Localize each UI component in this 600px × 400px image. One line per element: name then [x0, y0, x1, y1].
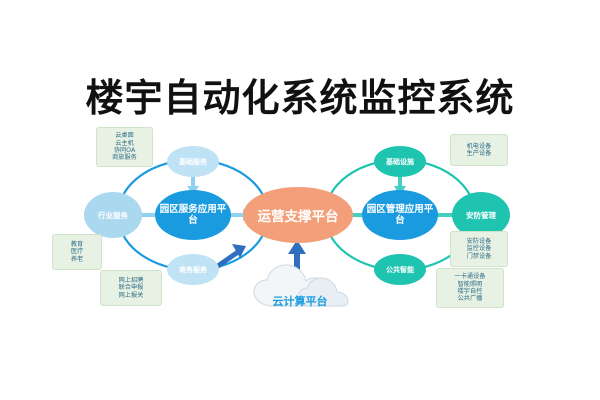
- tagbox-industry-services: 教育 医疗 养老: [52, 234, 102, 270]
- node-public-intelligence[interactable]: 公共智能: [374, 254, 426, 285]
- node-business-services[interactable]: 商务服务: [167, 254, 219, 285]
- tag-item: 联合申报: [119, 284, 144, 291]
- tag-item: 医疗: [71, 248, 83, 255]
- tag-item: 商旅服务: [112, 154, 137, 161]
- tagbox-infrastructure-equipment: 机电设备 生产设备: [450, 134, 508, 166]
- node-park-management-application-platform-label: 园区管理应用平台: [364, 204, 436, 226]
- tag-item: 云主机: [115, 140, 134, 147]
- node-business-services-label: 商务服务: [169, 265, 217, 275]
- node-infrastructure-label: 基础设施: [376, 157, 424, 167]
- tag-item: 网上报关: [119, 292, 144, 299]
- tagbox-cloud-services: 云桌面 云主机 协同OA 商旅服务: [96, 127, 153, 167]
- tagbox-security-equipment: 安防设备 监控设备 门禁设备: [450, 231, 508, 267]
- tag-item: 智能照明: [458, 281, 483, 288]
- node-operation-support-platform[interactable]: 运营支撑平台: [243, 187, 353, 243]
- tag-item: 生产设备: [467, 150, 492, 157]
- node-infrastructure[interactable]: 基础设施: [374, 146, 426, 177]
- node-industry-services-label: 行业服务: [86, 210, 140, 221]
- node-operation-support-platform-label: 运营支撑平台: [245, 205, 351, 225]
- node-park-service-application-platform[interactable]: 园区服务应用平台: [155, 190, 231, 240]
- tag-item: 一卡通设备: [455, 273, 486, 280]
- node-park-management-application-platform[interactable]: 园区管理应用平台: [362, 190, 438, 240]
- node-industry-services[interactable]: 行业服务: [84, 192, 142, 238]
- tag-item: 云桌面: [115, 132, 134, 139]
- tag-item: 监控设备: [467, 245, 492, 252]
- node-basic-services[interactable]: 基础服务: [167, 146, 219, 177]
- tag-item: 机电设备: [467, 143, 492, 150]
- diagram-canvas: 楼宇自动化系统监控系统: [0, 0, 600, 400]
- node-security-management-label: 安防管理: [454, 210, 508, 221]
- node-basic-services-label: 基础服务: [169, 157, 217, 167]
- tag-item: 养老: [71, 256, 83, 263]
- tag-item: 门禁设备: [467, 253, 492, 260]
- tagbox-business-services: 网上招聘 联合申报 网上报关: [100, 270, 162, 306]
- cloud-computing-label: 云计算平台: [245, 293, 355, 309]
- tagbox-public-intelligence: 一卡通设备 智能照明 楼宇自控 公共广播: [436, 268, 504, 308]
- tag-item: 公共广播: [458, 295, 483, 302]
- node-park-service-application-platform-label: 园区服务应用平台: [157, 204, 229, 226]
- node-public-intelligence-label: 公共智能: [376, 265, 424, 275]
